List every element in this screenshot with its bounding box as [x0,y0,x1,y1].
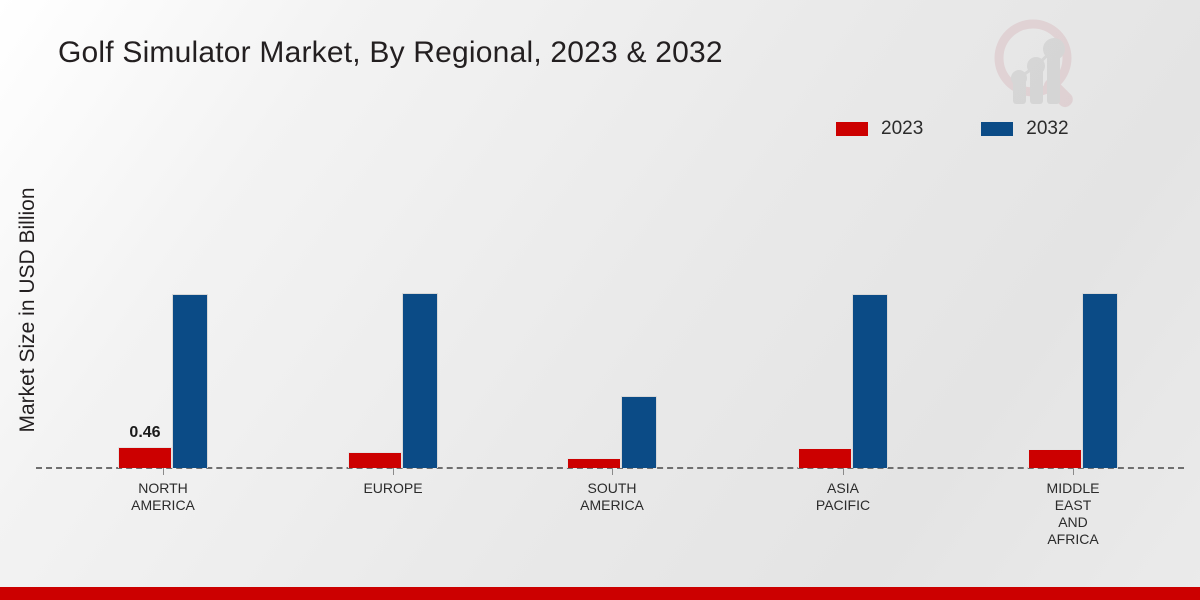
x-axis-category-label: NORTH AMERICA [131,480,195,514]
bar-group [567,0,657,468]
bar-2032-blue[interactable] [621,396,657,468]
bar-2023-red[interactable] [348,452,402,468]
x-axis-category-label: ASIA PACIFIC [816,480,870,514]
bar-value-label: 0.46 [129,424,160,442]
bar-2032-blue[interactable] [172,294,208,468]
x-axis-category-label: EUROPE [363,480,422,497]
x-axis-tick [843,468,844,475]
bar-2032-blue[interactable] [402,293,438,468]
legend-swatch-2032 [981,122,1013,136]
x-axis-tick [393,468,394,475]
bar-2023-red[interactable] [567,458,621,468]
bar-2023-red[interactable]: 0.46 [118,447,172,468]
chart-container: Golf Simulator Market, By Regional, 2023… [0,0,1200,600]
bar-group [798,0,888,468]
bar-2023-red[interactable] [798,448,852,468]
bar-2032-blue[interactable] [852,294,888,468]
y-axis-title: Market Size in USD Billion [16,140,40,480]
x-axis-category-label: SOUTH AMERICA [580,480,644,514]
x-axis-tick [612,468,613,475]
bar-group [1028,0,1118,468]
bar-group [348,0,438,468]
x-axis-tick [163,468,164,475]
x-axis-category-label: MIDDLE EAST AND AFRICA [1047,480,1100,548]
x-axis-tick [1073,468,1074,475]
bar-2032-blue[interactable] [1082,293,1118,468]
bar-2023-red[interactable] [1028,449,1082,468]
footer-accent-bar [0,587,1200,600]
bar-group: 0.46 [118,0,208,468]
